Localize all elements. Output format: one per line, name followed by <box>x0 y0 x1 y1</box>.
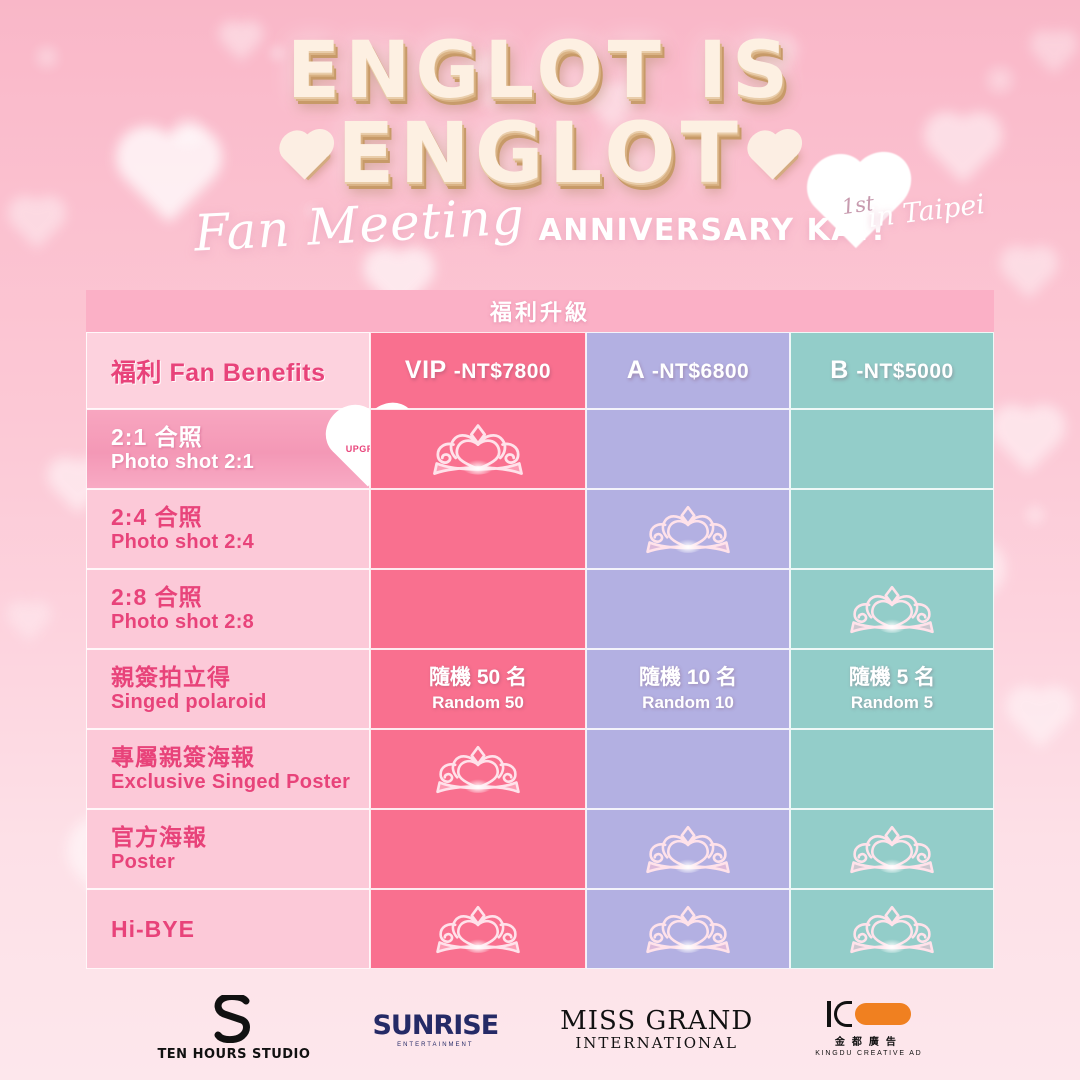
tier-vip-label: VIP -NT$7800 <box>405 356 551 385</box>
benefit-label-cell: 親簽拍立得Singed polaroid <box>86 649 370 729</box>
crown-icon <box>636 902 740 956</box>
tier-vip-price: -NT$7800 <box>454 360 551 383</box>
tier-a-name: A <box>627 356 645 384</box>
benefit-value: 隨機 50 名Random 50 <box>429 665 527 713</box>
logo-kingdu: 金都廣告 KINGDU CREATIVE AD <box>815 1000 922 1057</box>
header-cell-vip: VIP -NT$7800 <box>370 332 586 409</box>
benefit-value: 隨機 5 名Random 5 <box>849 665 935 713</box>
poster-title-line2-text: ENGLOT <box>337 104 743 202</box>
benefit-label-cn: 專屬親簽海報 <box>111 744 255 770</box>
benefit-label-cn: 2:8 合照 <box>111 584 203 610</box>
table-row: 專屬親簽海報Exclusive Singed Poster <box>86 729 994 809</box>
kingdu-sub: KINGDU CREATIVE AD <box>815 1050 922 1057</box>
benefit-value-cn: 隨機 5 名 <box>849 665 935 691</box>
header-cell-b: B -NT$5000 <box>790 332 994 409</box>
benefit-value-en: Random 50 <box>429 692 527 713</box>
table-row: Hi-BYE <box>86 889 994 969</box>
benefit-label-en: Exclusive Singed Poster <box>111 770 350 794</box>
background-heart-icon <box>1012 692 1069 749</box>
background-heart-icon <box>997 411 1059 473</box>
table-row: 2:1 合照Photo shot 2:1UPGRADE <box>86 409 994 489</box>
benefit-cell-a <box>586 489 790 569</box>
benefit-cell-b <box>790 889 994 969</box>
benefit-label-cn: 2:4 合照 <box>111 504 203 530</box>
crown-icon <box>840 582 944 636</box>
table-row: 2:4 合照Photo shot 2:4 <box>86 489 994 569</box>
benefit-label-cell: 2:1 合照Photo shot 2:1UPGRADE <box>86 409 370 489</box>
footer-logos: TEN HOURS STUDIO SUNRISE ENTERTAINMENT M… <box>0 995 1080 1062</box>
benefit-label-en: Singed polaroid <box>111 690 267 714</box>
table-row: 官方海報Poster <box>86 809 994 889</box>
benefit-cell-a <box>586 889 790 969</box>
logo-ten-hours-studio: TEN HOURS STUDIO <box>157 995 310 1062</box>
poster-title-line2: ENGLOT <box>0 113 1080 194</box>
crown-icon <box>422 420 534 478</box>
miss-grand-name: MISS GRAND <box>560 1006 753 1036</box>
crown-icon <box>840 822 944 876</box>
benefit-cell-b <box>790 409 994 489</box>
poster-title-line1: ENGLOT IS <box>0 34 1080 109</box>
crown-icon <box>636 502 740 556</box>
table-row: 2:8 合照Photo shot 2:8 <box>86 569 994 649</box>
table-banner: 福利升級 <box>86 290 994 332</box>
header-cell-a: A -NT$6800 <box>586 332 790 409</box>
tier-b-price: -NT$5000 <box>856 360 953 383</box>
kingdu-mark-icon <box>827 1000 911 1028</box>
tier-vip-name: VIP <box>405 356 446 384</box>
ten-hours-s-mark-icon <box>214 995 254 1043</box>
benefit-value-cn: 隨機 10 名 <box>639 665 737 691</box>
sunrise-name: SUNRISE <box>372 1010 498 1041</box>
fan-meeting-text: Fan Meeting <box>192 187 525 262</box>
background-heart-icon <box>11 605 48 642</box>
benefit-label-cell: 專屬親簽海報Exclusive Singed Poster <box>86 729 370 809</box>
logo-miss-grand: MISS GRAND INTERNATIONAL <box>560 1006 753 1052</box>
tier-b-name: B <box>830 356 849 384</box>
crown-icon <box>840 902 944 956</box>
sunrise-sub: ENTERTAINMENT <box>397 1042 473 1048</box>
kingdu-name: 金都廣告 <box>835 1033 903 1048</box>
benefit-cell-vip <box>370 489 586 569</box>
benefit-cell-b <box>790 809 994 889</box>
benefit-cell-vip <box>370 889 586 969</box>
tier-a-label: A -NT$6800 <box>627 356 749 385</box>
benefit-label-en: Poster <box>111 850 175 874</box>
table-header-row: 福利 Fan Benefits VIP -NT$7800 A -NT$6800 … <box>86 332 994 409</box>
benefit-value-en: Random 5 <box>849 692 935 713</box>
benefit-label-cell: Hi-BYE <box>86 889 370 969</box>
benefit-cell-vip: 隨機 50 名Random 50 <box>370 649 586 729</box>
benefit-label-cell: 2:8 合照Photo shot 2:8 <box>86 569 370 649</box>
benefit-value-en: Random 10 <box>639 692 737 713</box>
benefit-label-en: Photo shot 2:8 <box>111 610 254 634</box>
miss-grand-sub: INTERNATIONAL <box>575 1034 738 1052</box>
benefit-cell-vip <box>370 409 586 489</box>
heart-icon-right <box>757 142 791 172</box>
benefit-label-cn: 2:1 合照 <box>111 424 203 450</box>
header-cell-benefits: 福利 Fan Benefits <box>86 332 370 409</box>
benefit-label-en: Photo shot 2:1 <box>111 450 254 474</box>
benefit-label-cn: 官方海報 <box>111 824 207 850</box>
benefit-label-en: Photo shot 2:4 <box>111 530 254 554</box>
benefit-cell-a <box>586 729 790 809</box>
benefit-cell-a <box>586 809 790 889</box>
benefit-cell-a <box>586 569 790 649</box>
benefit-cell-b <box>790 489 994 569</box>
table-body: 2:1 合照Photo shot 2:1UPGRADE2:4 合照Photo s… <box>86 409 994 969</box>
crown-icon <box>426 902 530 956</box>
benefit-cell-b: 隨機 5 名Random 5 <box>790 649 994 729</box>
background-heart-icon <box>1005 251 1053 299</box>
benefit-cell-vip <box>370 569 586 649</box>
benefit-label-cell: 2:4 合照Photo shot 2:4 <box>86 489 370 569</box>
logo-sunrise: SUNRISE ENTERTAINMENT <box>372 1010 498 1048</box>
benefit-cell-vip <box>370 729 586 809</box>
benefit-cell-a <box>586 409 790 489</box>
tier-a-price: -NT$6800 <box>652 360 749 383</box>
crown-icon <box>636 822 740 876</box>
benefits-table: 福利升級 福利 Fan Benefits VIP -NT$7800 A -NT$… <box>86 290 994 969</box>
benefit-label-cell: 官方海報Poster <box>86 809 370 889</box>
crown-icon <box>426 742 530 796</box>
ten-hours-studio-name: TEN HOURS STUDIO <box>157 1047 310 1062</box>
benefit-value: 隨機 10 名Random 10 <box>639 665 737 713</box>
benefit-value-cn: 隨機 50 名 <box>429 665 527 691</box>
poster-header: ENGLOT IS ENGLOT Fan Meeting ANNIVERSARY… <box>0 0 1080 254</box>
header-benefits-label: 福利 Fan Benefits <box>111 353 325 389</box>
heart-icon-left <box>289 142 323 172</box>
benefit-cell-b <box>790 729 994 809</box>
benefit-label-cn: Hi-BYE <box>111 916 195 942</box>
background-bokeh <box>1020 500 1050 530</box>
tier-b-label: B -NT$5000 <box>830 356 953 385</box>
table-row: 親簽拍立得Singed polaroid隨機 50 名Random 50隨機 1… <box>86 649 994 729</box>
benefit-label-cn: 親簽拍立得 <box>111 664 231 690</box>
benefit-cell-a: 隨機 10 名Random 10 <box>586 649 790 729</box>
benefit-cell-b <box>790 569 994 649</box>
benefit-cell-vip <box>370 809 586 889</box>
